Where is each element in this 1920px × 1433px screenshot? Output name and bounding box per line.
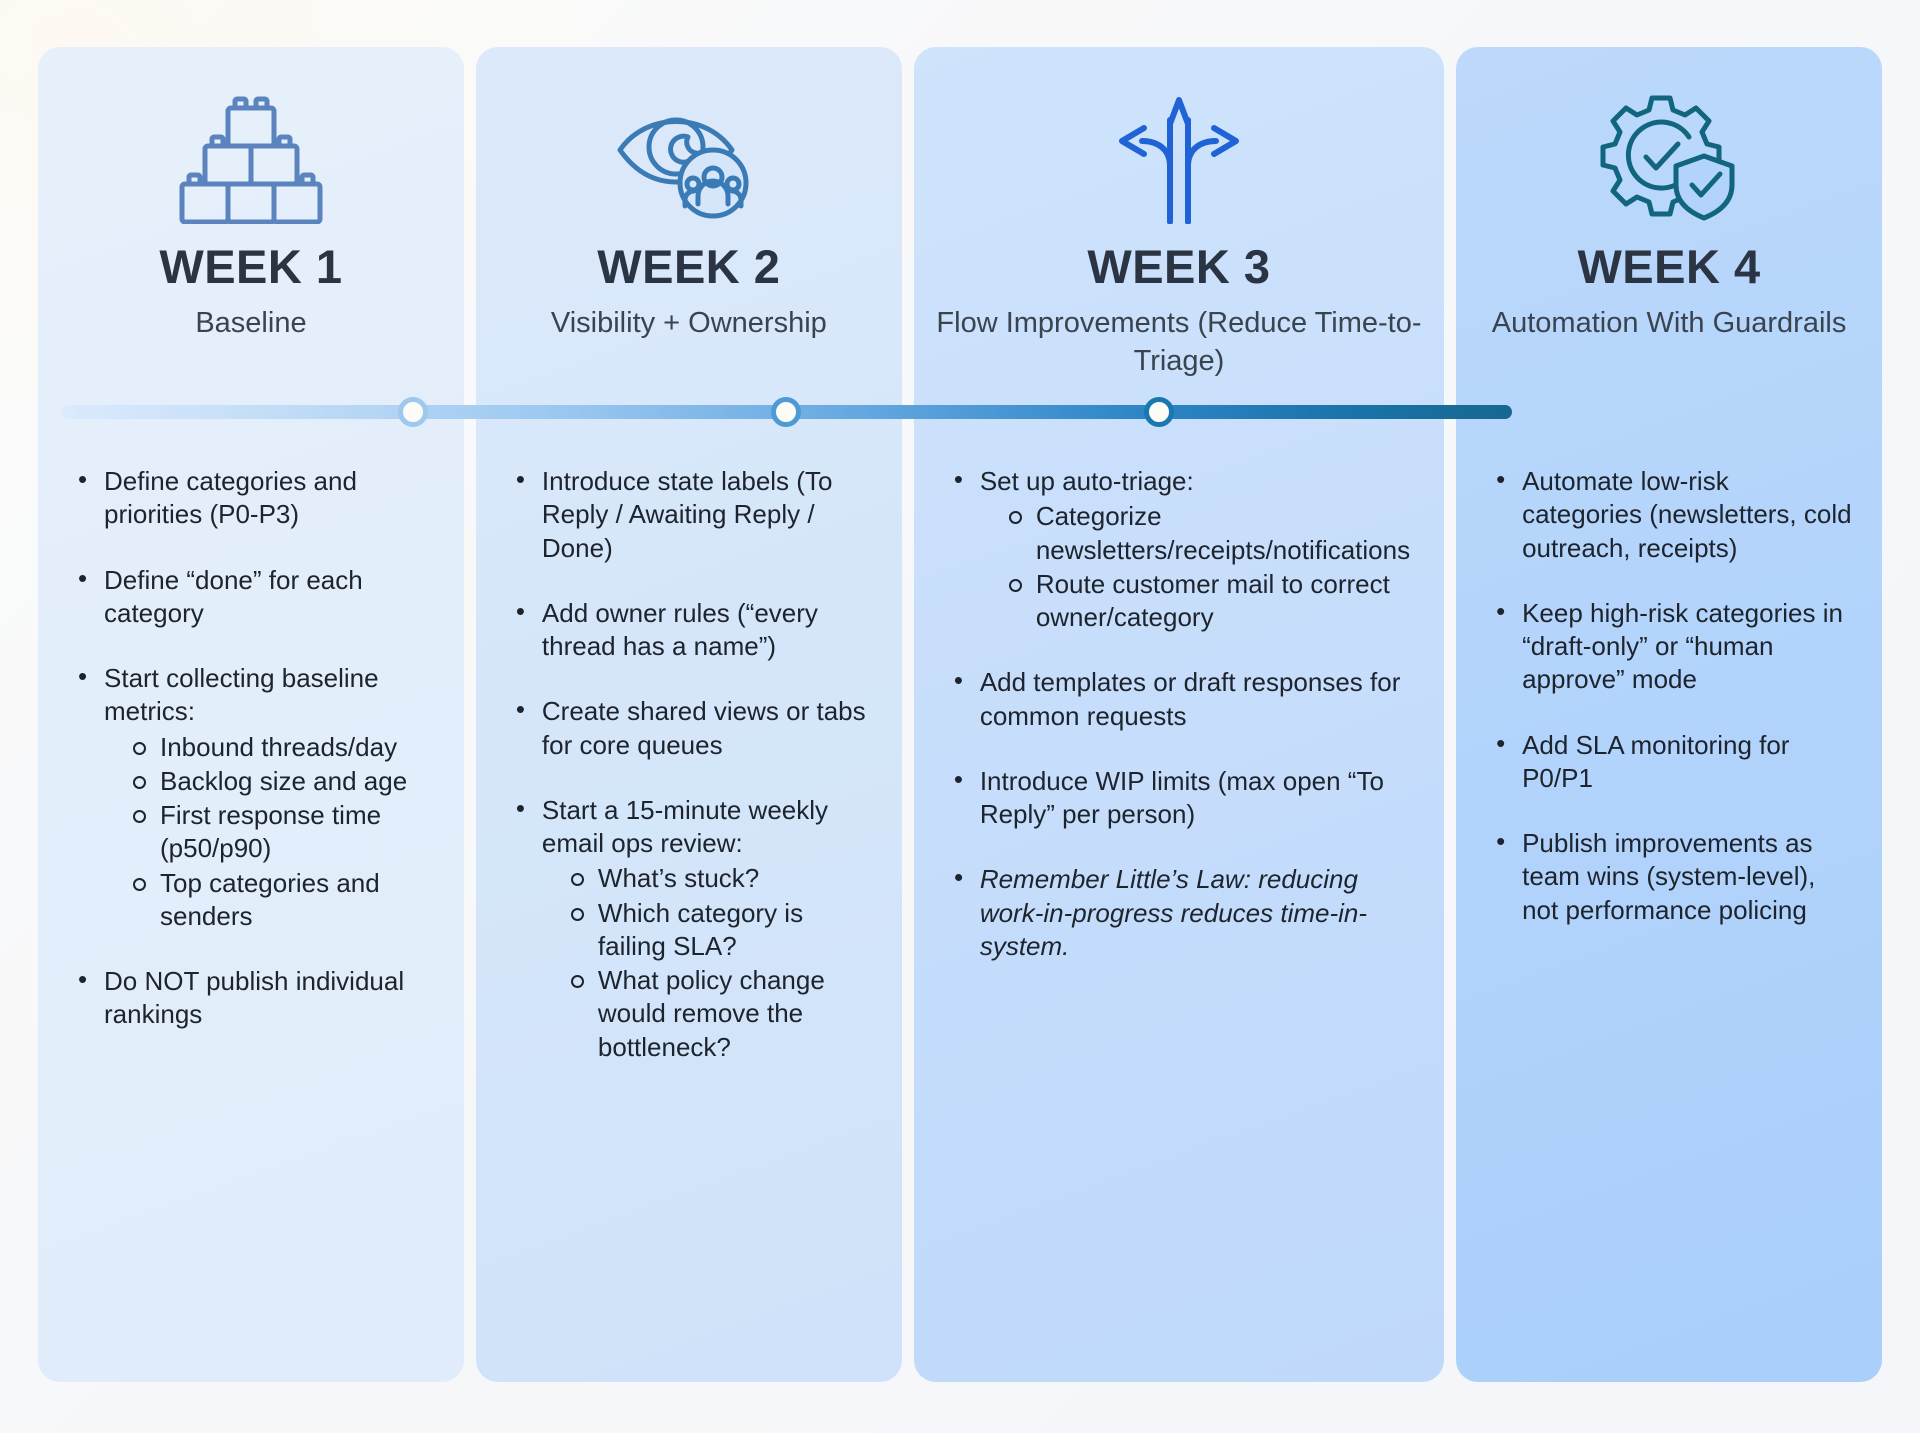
week-1-body: Define categories and priorities (P0-P3)… — [38, 417, 464, 1072]
week-3-header: WEEK 3 Flow Improvements (Reduce Time-to… — [914, 47, 1444, 417]
list-item: Automate low-risk categories (newsletter… — [1490, 465, 1852, 565]
sub-list-item: What policy change would remove the bott… — [568, 964, 866, 1064]
week-3-list: Set up auto-triage: Categorize newslette… — [948, 465, 1410, 963]
eye-people-icon — [614, 89, 764, 229]
sub-list-item: What’s stuck? — [568, 862, 866, 895]
list-item: Define “done” for each category — [72, 564, 420, 631]
week-column-4: WEEK 4 Automation With Guardrails Automa… — [1456, 47, 1882, 1382]
week-2-body: Introduce state labels (To Reply / Await… — [476, 417, 902, 1105]
list-item: Start a 15-minute weekly email ops revie… — [510, 794, 866, 1064]
bullet-text: Set up auto-triage: — [980, 465, 1410, 498]
week-columns: WEEK 1 Baseline Define categories and pr… — [38, 47, 1882, 1382]
list-item: Publish improvements as team wins (syste… — [1490, 827, 1852, 927]
building-blocks-icon — [176, 89, 326, 229]
bullet-text: Start collecting baseline metrics: — [104, 662, 420, 729]
sub-list: Categorize newsletters/receipts/notifica… — [980, 500, 1410, 634]
gear-shield-check-icon — [1594, 89, 1744, 229]
week-3-title: WEEK 3 — [1087, 243, 1270, 290]
bullet-text: Automate low-risk categories (newsletter… — [1522, 465, 1852, 565]
bullet-text: Introduce state labels (To Reply / Await… — [542, 465, 866, 565]
bullet-text: Introduce WIP limits (max open “To Reply… — [980, 765, 1410, 832]
week-4-header: WEEK 4 Automation With Guardrails — [1456, 47, 1882, 417]
week-1-subtitle: Baseline — [177, 304, 324, 342]
sub-list-item: Categorize newsletters/receipts/notifica… — [1006, 500, 1410, 567]
week-2-title: WEEK 2 — [597, 243, 780, 290]
week-4-list: Automate low-risk categories (newsletter… — [1490, 465, 1852, 927]
list-item: Remember Little’s Law: reducing work-in-… — [948, 863, 1410, 963]
bullet-text: Define “done” for each category — [104, 564, 420, 631]
list-item: Add templates or draft responses for com… — [948, 666, 1410, 733]
list-item: Start collecting baseline metrics: Inbou… — [72, 662, 420, 933]
list-item: Introduce WIP limits (max open “To Reply… — [948, 765, 1410, 832]
sub-list-item: Top categories and senders — [130, 867, 420, 934]
bullet-text: Do NOT publish individual rankings — [104, 965, 420, 1032]
week-4-body: Automate low-risk categories (newsletter… — [1456, 417, 1882, 967]
list-item: Keep high-risk categories in “draft-only… — [1490, 597, 1852, 697]
bullet-text: Publish improvements as team wins (syste… — [1522, 827, 1852, 927]
sub-list-item: Route customer mail to correct owner/cat… — [1006, 568, 1410, 635]
week-2-list: Introduce state labels (To Reply / Await… — [510, 465, 866, 1064]
week-4-title: WEEK 4 — [1577, 243, 1760, 290]
sub-list: What’s stuck? Which category is failing … — [542, 862, 866, 1064]
list-item: Set up auto-triage: Categorize newslette… — [948, 465, 1410, 634]
week-1-list: Define categories and priorities (P0-P3)… — [72, 465, 420, 1032]
sub-list-item: First response time (p50/p90) — [130, 799, 420, 866]
list-item: Add SLA monitoring for P0/P1 — [1490, 729, 1852, 796]
bullet-text: Keep high-risk categories in “draft-only… — [1522, 597, 1852, 697]
bullet-text: Create shared views or tabs for core que… — [542, 695, 866, 762]
bullet-text: Add SLA monitoring for P0/P1 — [1522, 729, 1852, 796]
list-item: Introduce state labels (To Reply / Await… — [510, 465, 866, 565]
bullet-text: Define categories and priorities (P0-P3) — [104, 465, 420, 532]
infographic-canvas: WEEK 1 Baseline Define categories and pr… — [0, 0, 1920, 1433]
week-3-subtitle: Flow Improvements (Reduce Time-to-Triage… — [914, 304, 1444, 381]
bullet-text: Add owner rules (“every thread has a nam… — [542, 597, 866, 664]
week-column-2: WEEK 2 Visibility + Ownership Introduce … — [476, 47, 902, 1382]
bullet-text: Remember Little’s Law: reducing work-in-… — [980, 863, 1410, 963]
week-1-header: WEEK 1 Baseline — [38, 47, 464, 417]
sub-list-item: Backlog size and age — [130, 765, 420, 798]
list-item: Define categories and priorities (P0-P3) — [72, 465, 420, 532]
list-item: Do NOT publish individual rankings — [72, 965, 420, 1032]
bullet-text: Start a 15-minute weekly email ops revie… — [542, 794, 866, 861]
three-way-arrows-icon — [1104, 89, 1254, 229]
week-3-body: Set up auto-triage: Categorize newslette… — [914, 417, 1444, 1003]
list-item: Add owner rules (“every thread has a nam… — [510, 597, 866, 664]
list-item: Create shared views or tabs for core que… — [510, 695, 866, 762]
sub-list: Inbound threads/day Backlog size and age… — [104, 731, 420, 934]
week-4-subtitle: Automation With Guardrails — [1474, 304, 1865, 342]
week-column-3: WEEK 3 Flow Improvements (Reduce Time-to… — [914, 47, 1444, 1382]
bullet-text: Add templates or draft responses for com… — [980, 666, 1410, 733]
sub-list-item: Which category is failing SLA? — [568, 897, 866, 964]
week-2-header: WEEK 2 Visibility + Ownership — [476, 47, 902, 417]
week-column-1: WEEK 1 Baseline Define categories and pr… — [38, 47, 464, 1382]
sub-list-item: Inbound threads/day — [130, 731, 420, 764]
week-2-subtitle: Visibility + Ownership — [533, 304, 845, 342]
week-1-title: WEEK 1 — [159, 243, 342, 290]
